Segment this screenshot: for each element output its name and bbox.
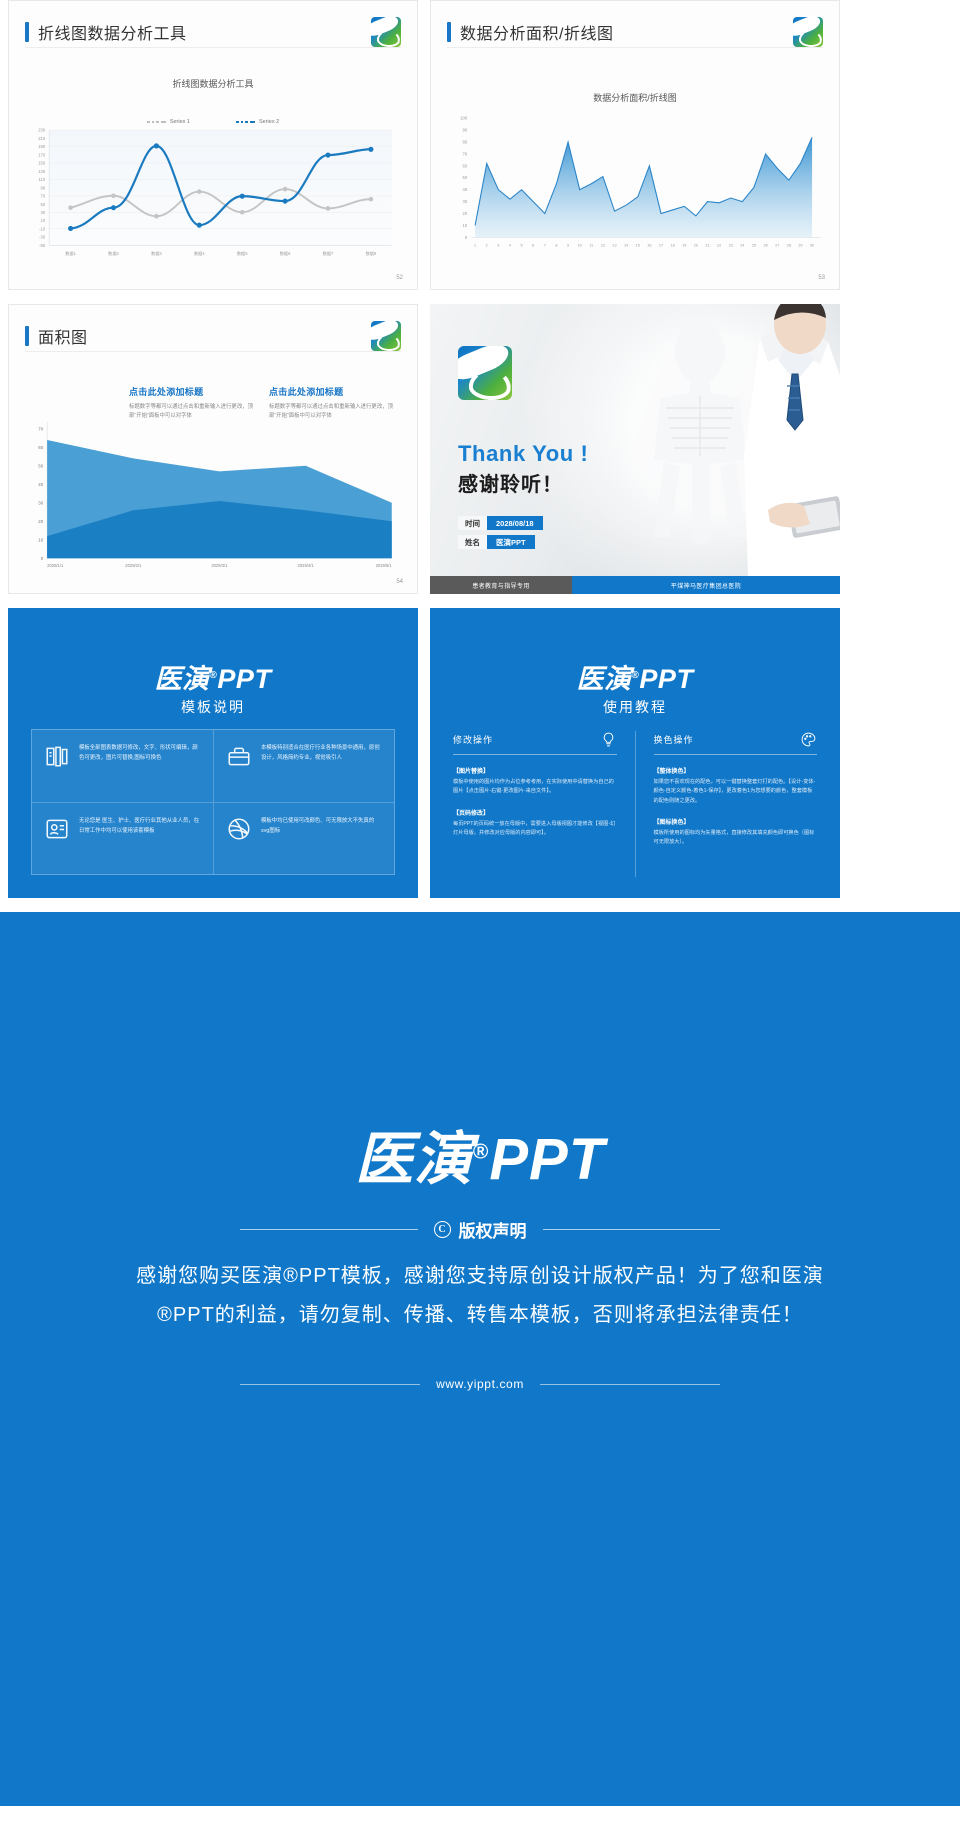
copyright-band: 医演®PPT C 版权声明 感谢您购买医演®PPT模板，感谢您支持原创设计版权产… [0, 912, 960, 1806]
slide-area-line-chart[interactable]: 数据分析面积/折线图 数据分析面积/折线图 10090 8070 6050 40… [430, 0, 840, 290]
copyright-body: 感谢您购买医演®PPT模板，感谢您支持原创设计版权产品！为了您和医演®PPT的利… [0, 1257, 960, 1335]
svg-text:数据4: 数据4 [194, 250, 205, 256]
svg-text:22: 22 [717, 243, 721, 247]
svg-text:21: 21 [705, 243, 709, 247]
svg-text:20: 20 [38, 519, 43, 524]
brand-wordmark: 医演®PPT [9, 657, 417, 696]
svg-text:26: 26 [763, 243, 767, 247]
spacer [840, 0, 848, 290]
tutorial-block: 【图标换色】 模板所使用的图标均为矢量格式，直接修改其填充颜色即可换色（图标可无… [654, 817, 818, 848]
svg-text:30: 30 [810, 243, 814, 247]
tutorial-block-title: 【图片替换】 [453, 766, 617, 775]
slide-tutorial[interactable]: 医演®PPT 使用教程 修改操作 【图片替换】 模板中使用的图片均作为占位参考考… [430, 608, 840, 898]
svg-text:110: 110 [39, 177, 46, 182]
tutorial-heading-row: 换色操作 [654, 731, 818, 755]
svg-text:50: 50 [38, 464, 43, 469]
svg-text:5: 5 [521, 243, 523, 247]
svg-text:1: 1 [474, 243, 476, 247]
spacer [418, 0, 430, 290]
svg-text:25: 25 [752, 243, 756, 247]
spacer [0, 0, 8, 290]
spacer [418, 608, 430, 898]
tutorial-heading-row: 修改操作 [453, 731, 617, 755]
spacer [840, 608, 848, 898]
svg-text:30: 30 [41, 210, 46, 215]
svg-text:70: 70 [41, 194, 46, 199]
copyright-title: 版权声明 [459, 1217, 527, 1242]
svg-text:23: 23 [729, 243, 733, 247]
svg-text:40: 40 [463, 187, 468, 192]
svg-text:数据6: 数据6 [280, 250, 291, 256]
brand-ppt: PPT [639, 664, 693, 694]
svg-text:6: 6 [532, 243, 534, 247]
meta-value: 医演PPT [487, 535, 535, 549]
svg-text:0: 0 [465, 235, 468, 240]
svg-text:80: 80 [463, 140, 468, 145]
brand-wordmark: 医演®PPT [431, 657, 839, 696]
tutorial-columns: 修改操作 【图片替换】 模板中使用的图片均作为占位参考考用，在实际使用中请替换为… [453, 731, 817, 877]
slide-subtitle: 模板说明 [9, 697, 417, 717]
tutorial-block-body: 如果您不喜欢现在的配色，可以一键替换整套灯打的配色。【设计-变体-颜色-自定义颜… [654, 778, 818, 806]
svg-text:11: 11 [589, 243, 593, 247]
svg-text:2029/3/1: 2029/3/1 [211, 563, 228, 568]
copyright-icon: C [434, 1221, 451, 1238]
feature-text: 无论您是 医生、护士、医疗行业其他从业人员，在日常工作中均可以使用该套模板 [79, 816, 201, 836]
feature-text: 模板全部图表数据可修改，文字、形状可编辑，颜色可更改，图片可替换,图标可换色 [79, 743, 201, 763]
svg-text:15: 15 [636, 243, 640, 247]
svg-text:50: 50 [41, 202, 46, 207]
svg-text:-30: -30 [39, 235, 46, 240]
svg-text:10: 10 [41, 218, 46, 223]
tutorial-block-title: 【整体换色】 [654, 766, 818, 775]
slide-template-info[interactable]: 医演®PPT 模板说明 模板全部图表数据可修改，文字、形状可编辑，颜色可更改，图… [8, 608, 418, 898]
svg-text:数据2: 数据2 [108, 250, 119, 256]
svg-text:190: 190 [38, 144, 46, 149]
svg-text:210: 210 [38, 136, 46, 141]
divider-line [540, 1384, 720, 1385]
svg-text:70: 70 [463, 151, 468, 156]
svg-text:3: 3 [497, 243, 499, 247]
tutorial-block-body: 模板中使用的图片均作为占位参考考用，在实际使用中请替换为自己的图片【点击图片-右… [453, 778, 617, 797]
tutorial-heading: 换色操作 [654, 733, 694, 746]
tutorial-block: 【整体换色】 如果您不喜欢现在的配色，可以一键替换整套灯打的配色。【设计-变体-… [654, 766, 818, 806]
palette-icon [800, 731, 817, 748]
slide-subtitle: 使用教程 [431, 697, 839, 717]
tutorial-block-body: 每页PPT的页码统一放在母版中，需要进入母版视图才能修改【视图-幻灯片母版，并修… [453, 820, 617, 839]
brand-logo-icon [458, 346, 512, 400]
lightbulb-icon [600, 731, 617, 748]
svg-text:24: 24 [740, 243, 744, 247]
doctor-photo [592, 304, 840, 576]
brand-wordmark-large: 医演®PPT [0, 1112, 960, 1196]
svg-text:0: 0 [41, 556, 44, 561]
column-divider [635, 731, 636, 877]
svg-text:17: 17 [659, 243, 663, 247]
area-line-chart-canvas: 10090 8070 6050 4030 2010 0 123 456 789 … [431, 1, 839, 289]
brand-name-cn: 医演 [355, 1127, 473, 1192]
line-chart-canvas: 230210 190170 150130 11090 7050 3010 -10… [9, 1, 417, 289]
meta-row-name: 姓名 医演PPT [458, 535, 535, 549]
svg-text:12: 12 [601, 243, 605, 247]
svg-text:数据1: 数据1 [65, 250, 76, 256]
svg-text:130: 130 [38, 169, 46, 174]
svg-text:170: 170 [38, 152, 46, 157]
svg-text:27: 27 [775, 243, 779, 247]
svg-text:150: 150 [38, 161, 46, 166]
svg-text:60: 60 [38, 445, 43, 450]
svg-text:20: 20 [694, 243, 698, 247]
meta-label: 时间 [458, 516, 487, 530]
svg-text:数据5: 数据5 [237, 250, 248, 256]
svg-text:10: 10 [463, 223, 468, 228]
footer-right-label: 平煤神马医疗集团总医院 [572, 576, 840, 594]
svg-text:数据7: 数据7 [323, 250, 334, 256]
feature-cell[interactable]: 无论您是 医生、护士、医疗行业其他从业人员，在日常工作中均可以使用该套模板 [32, 802, 213, 874]
brand-ppt: PPT [489, 1127, 605, 1192]
meta-row-time: 时间 2028/08/18 [458, 516, 543, 530]
svg-text:19: 19 [682, 243, 686, 247]
svg-text:9: 9 [567, 243, 569, 247]
svg-text:-10: -10 [39, 227, 46, 232]
tutorial-heading: 修改操作 [453, 733, 493, 746]
feature-cell[interactable]: 本模板特别适合在医疗行业各种场景中通用，原创设计，风格简约专业，视觉吸引人 [213, 730, 394, 802]
slide-line-chart[interactable]: 折线图数据分析工具 折线图数据分析工具 Series 1 Series 2 [8, 0, 418, 290]
divider-line [240, 1229, 418, 1230]
spacer [0, 608, 8, 898]
page-number: 54 [396, 579, 403, 585]
spacer [0, 290, 960, 304]
spacer [0, 898, 960, 912]
page-number: 53 [818, 275, 825, 281]
slide-thank-you[interactable]: Thank You ! 感谢聆听！ 时间 2028/08/18 姓名 医演PPT… [430, 304, 840, 594]
svg-text:2029/5/1: 2029/5/1 [376, 563, 393, 568]
svg-text:8: 8 [555, 243, 557, 247]
divider-line [240, 1384, 420, 1385]
tutorial-block-title: 【页码修改】 [453, 808, 617, 817]
meta-value: 2028/08/18 [487, 516, 543, 530]
url-row: www.yippt.com [240, 1377, 720, 1391]
tutorial-block: 【页码修改】 每页PPT的页码统一放在母版中，需要进入母版视图才能修改【视图-幻… [453, 808, 617, 839]
slide-footer: 患者教育与指导专用 平煤神马医疗集团总医院 [430, 576, 840, 594]
svg-text:60: 60 [463, 163, 468, 168]
spacer [418, 304, 430, 594]
svg-text:数据3: 数据3 [151, 250, 162, 256]
svg-text:2029/2/1: 2029/2/1 [125, 563, 142, 568]
svg-text:100: 100 [460, 116, 468, 121]
stacked-area-chart-canvas: 7060 5040 3020 100 2029/1/1 2029/2/1 202… [9, 305, 417, 593]
brand-name-cn: 医演 [155, 664, 210, 694]
dribbble-icon [226, 816, 252, 842]
svg-text:14: 14 [624, 243, 628, 247]
svg-text:70: 70 [38, 427, 43, 432]
divider-line [543, 1229, 721, 1230]
page-number: 52 [396, 275, 403, 281]
feature-text: 模板中均已使用可改颜色、可无限放大不失真的svg图标 [261, 816, 382, 836]
slide-grid: 折线图数据分析工具 折线图数据分析工具 Series 1 Series 2 [0, 0, 960, 1806]
book-icon [44, 743, 70, 769]
svg-text:2: 2 [486, 243, 488, 247]
brand-ppt: PPT [217, 664, 271, 694]
tutorial-block-body: 模板所使用的图标均为矢量格式，直接修改其填充颜色即可换色（图标可无限放大）。 [654, 829, 818, 848]
spacer [0, 304, 8, 594]
svg-text:90: 90 [41, 185, 46, 190]
svg-text:50: 50 [463, 175, 468, 180]
svg-text:4: 4 [509, 243, 511, 247]
meta-label: 姓名 [458, 535, 487, 549]
svg-text:10: 10 [38, 537, 43, 542]
feature-cell[interactable]: 模板全部图表数据可修改，文字、形状可编辑，颜色可更改，图片可替换,图标可换色 [32, 730, 213, 802]
feature-grid: 模板全部图表数据可修改，文字、形状可编辑，颜色可更改，图片可替换,图标可换色 本… [31, 729, 395, 875]
svg-text:2029/4/1: 2029/4/1 [298, 563, 315, 568]
user-id-icon [44, 816, 70, 842]
svg-text:28: 28 [787, 243, 791, 247]
copyright-heading: C 版权声明 [434, 1217, 527, 1242]
svg-text:10: 10 [578, 243, 582, 247]
svg-text:30: 30 [463, 199, 468, 204]
svg-text:18: 18 [671, 243, 675, 247]
tutorial-block-title: 【图标换色】 [654, 817, 818, 826]
briefcase-icon [226, 743, 252, 769]
svg-text:40: 40 [38, 482, 43, 487]
copyright-heading-row: C 版权声明 [240, 1217, 720, 1242]
svg-text:7: 7 [544, 243, 546, 247]
tutorial-column-edit: 修改操作 【图片替换】 模板中使用的图片均作为占位参考考用，在实际使用中请替换为… [453, 731, 617, 877]
svg-text:20: 20 [463, 211, 468, 216]
svg-text:数据8: 数据8 [366, 250, 377, 256]
thank-you-chinese: 感谢聆听！ [458, 468, 563, 497]
svg-text:90: 90 [463, 128, 468, 133]
svg-text:-50: -50 [39, 243, 46, 248]
brand-reg: ® [473, 1141, 489, 1164]
spacer [840, 304, 848, 594]
tutorial-block: 【图片替换】 模板中使用的图片均作为占位参考考用，在实际使用中请替换为自己的图片… [453, 766, 617, 797]
svg-text:30: 30 [38, 501, 43, 506]
thank-you-english: Thank You ! [458, 441, 588, 467]
svg-text:230: 230 [38, 128, 46, 133]
feature-cell[interactable]: 模板中均已使用可改颜色、可无限放大不失真的svg图标 [213, 802, 394, 874]
feature-text: 本模板特别适合在医疗行业各种场景中通用，原创设计，风格简约专业，视觉吸引人 [261, 743, 382, 763]
slide-area-chart[interactable]: 面积图 点击此处添加标题 标题数字等都可以通过点击和重新输入进行更改，顶部“开始… [8, 304, 418, 594]
svg-text:13: 13 [612, 243, 616, 247]
footer-left-label: 患者教育与指导专用 [430, 576, 572, 594]
svg-text:29: 29 [798, 243, 802, 247]
spacer [0, 594, 960, 608]
svg-text:2029/1/1: 2029/1/1 [47, 563, 64, 568]
brand-name-cn: 医演 [577, 664, 632, 694]
tutorial-column-color: 换色操作 【整体换色】 如果您不喜欢现在的配色，可以一键替换整套灯打的配色。【设… [654, 731, 818, 877]
website-url[interactable]: www.yippt.com [436, 1377, 524, 1391]
svg-text:16: 16 [647, 243, 651, 247]
